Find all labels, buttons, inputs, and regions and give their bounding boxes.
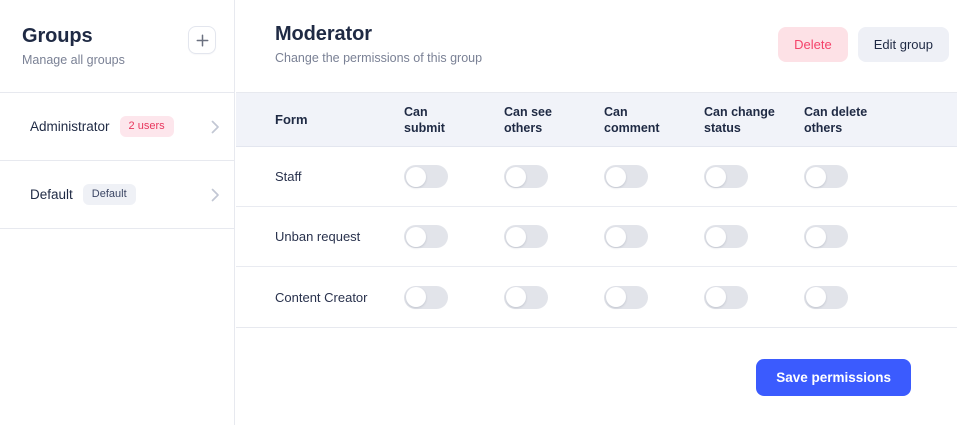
toggle-knob xyxy=(406,227,426,247)
toggle-can-delete-others[interactable] xyxy=(804,165,848,188)
groups-sidebar: Groups Manage all groups Administrator 2… xyxy=(0,0,235,425)
column-header-can-delete-others: Can delete others xyxy=(804,104,904,136)
toggle-cell-can-comment xyxy=(604,286,704,309)
permissions-main-panel: Moderator Change the permissions of this… xyxy=(235,0,963,425)
page-subtitle: Manage all groups xyxy=(22,52,125,68)
column-header-line2: status xyxy=(704,120,804,136)
group-name: Default xyxy=(30,187,73,202)
row-label-form: Content Creator xyxy=(236,290,404,305)
toggle-can-see-others[interactable] xyxy=(504,165,548,188)
toggle-cell-can-delete-others xyxy=(804,286,904,309)
column-header-line2: others xyxy=(804,120,904,136)
table-header-row: Form Can submit Can see others Can comme… xyxy=(236,93,957,147)
group-subtitle: Change the permissions of this group xyxy=(275,50,482,66)
toggle-can-delete-others[interactable] xyxy=(804,286,848,309)
table-footer: Save permissions xyxy=(235,328,957,426)
sidebar-header: Groups Manage all groups xyxy=(0,0,234,92)
toggle-can-comment[interactable] xyxy=(604,165,648,188)
toggle-knob xyxy=(406,167,426,187)
column-header-form: Form xyxy=(236,112,404,127)
table-row: Staff xyxy=(236,147,957,207)
toggle-cell-can-comment xyxy=(604,225,704,248)
toggle-cell-can-delete-others xyxy=(804,165,904,188)
column-header-line2: others xyxy=(504,120,604,136)
add-group-button[interactable] xyxy=(188,26,216,54)
toggle-knob xyxy=(606,287,626,307)
row-label-form: Staff xyxy=(236,169,404,184)
sidebar-header-text: Groups Manage all groups xyxy=(22,22,125,68)
column-header-can-comment: Can comment xyxy=(604,104,704,136)
toggle-cell-can-change-status xyxy=(704,165,804,188)
groups-permissions-page: Groups Manage all groups Administrator 2… xyxy=(0,0,963,425)
sidebar-item-administrator[interactable]: Administrator 2 users xyxy=(0,93,234,161)
chevron-right-icon xyxy=(211,120,220,134)
toggle-can-change-status[interactable] xyxy=(704,286,748,309)
status-badge: 2 users xyxy=(120,116,174,137)
main-header-text: Moderator Change the permissions of this… xyxy=(275,22,482,66)
plus-icon xyxy=(196,34,209,47)
toggle-knob xyxy=(506,287,526,307)
toggle-can-submit[interactable] xyxy=(404,286,448,309)
column-header-can-change-status: Can change status xyxy=(704,104,804,136)
column-header-line1: Can change xyxy=(704,104,804,120)
toggle-cell-can-change-status xyxy=(704,225,804,248)
toggle-can-submit[interactable] xyxy=(404,165,448,188)
group-name: Administrator xyxy=(30,119,110,134)
toggle-can-submit[interactable] xyxy=(404,225,448,248)
header-actions: Delete Edit group xyxy=(778,22,955,62)
row-label-form: Unban request xyxy=(236,229,404,244)
column-header-can-submit: Can submit xyxy=(404,104,504,136)
toggle-knob xyxy=(806,167,826,187)
toggle-knob xyxy=(806,227,826,247)
group-list: Administrator 2 users Default Default xyxy=(0,92,234,229)
toggle-cell-can-see-others xyxy=(504,225,604,248)
toggle-can-delete-others[interactable] xyxy=(804,225,848,248)
status-badge: Default xyxy=(83,184,136,205)
column-header-can-see-others: Can see others xyxy=(504,104,604,136)
column-header-line2: comment xyxy=(604,120,704,136)
save-permissions-button[interactable]: Save permissions xyxy=(756,359,911,396)
toggle-knob xyxy=(706,227,726,247)
permissions-table: Form Can submit Can see others Can comme… xyxy=(236,92,957,328)
toggle-can-change-status[interactable] xyxy=(704,165,748,188)
toggle-cell-can-see-others xyxy=(504,286,604,309)
toggle-cell-can-delete-others xyxy=(804,225,904,248)
toggle-knob xyxy=(706,287,726,307)
toggle-cell-can-see-others xyxy=(504,165,604,188)
toggle-knob xyxy=(506,167,526,187)
toggle-can-see-others[interactable] xyxy=(504,286,548,309)
group-title: Moderator xyxy=(275,22,482,46)
column-header-line1: Can xyxy=(404,104,504,120)
edit-group-button[interactable]: Edit group xyxy=(858,27,949,62)
table-row: Unban request xyxy=(236,207,957,267)
toggle-knob xyxy=(806,287,826,307)
table-row: Content Creator xyxy=(236,267,957,327)
column-header-line1: Can xyxy=(604,104,704,120)
toggle-knob xyxy=(506,227,526,247)
main-header: Moderator Change the permissions of this… xyxy=(235,0,963,92)
column-header-line1: Can see xyxy=(504,104,604,120)
toggle-knob xyxy=(606,167,626,187)
toggle-knob xyxy=(606,227,626,247)
toggle-cell-can-submit xyxy=(404,165,504,188)
column-header-line2: submit xyxy=(404,120,504,136)
toggle-knob xyxy=(406,287,426,307)
toggle-can-comment[interactable] xyxy=(604,286,648,309)
toggle-can-change-status[interactable] xyxy=(704,225,748,248)
toggle-cell-can-change-status xyxy=(704,286,804,309)
delete-group-button[interactable]: Delete xyxy=(778,27,848,62)
toggle-cell-can-submit xyxy=(404,286,504,309)
toggle-can-see-others[interactable] xyxy=(504,225,548,248)
chevron-right-icon xyxy=(211,188,220,202)
toggle-cell-can-submit xyxy=(404,225,504,248)
toggle-knob xyxy=(706,167,726,187)
sidebar-item-default[interactable]: Default Default xyxy=(0,161,234,229)
page-title: Groups xyxy=(22,24,125,48)
column-header-line1: Can delete xyxy=(804,104,904,120)
toggle-cell-can-comment xyxy=(604,165,704,188)
toggle-can-comment[interactable] xyxy=(604,225,648,248)
